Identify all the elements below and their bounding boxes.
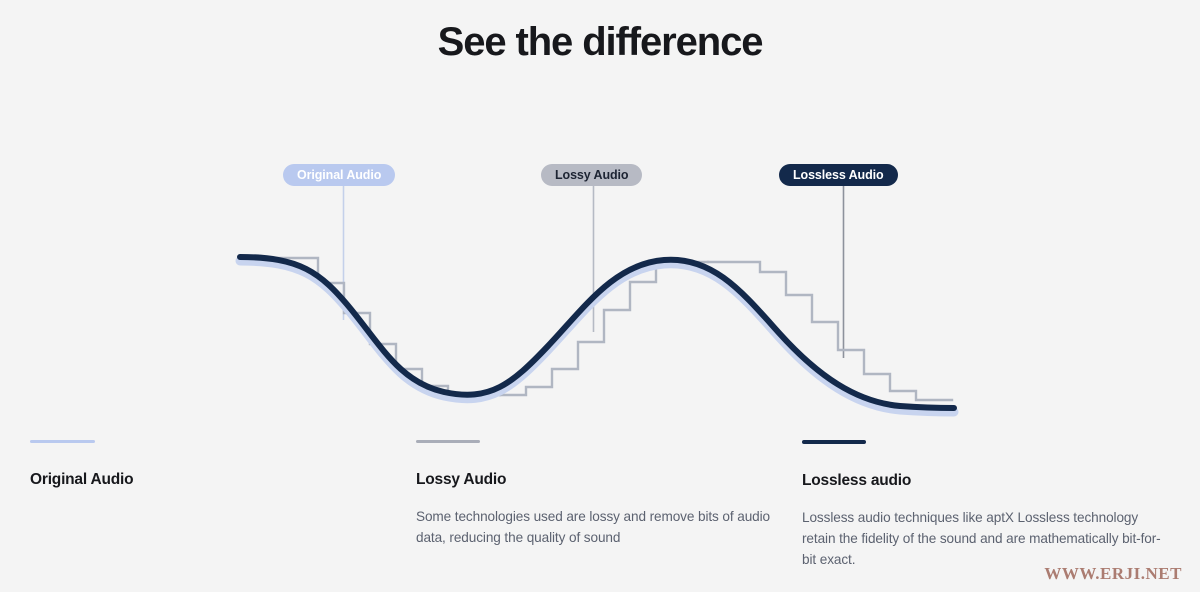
waveform-chart (0, 110, 1200, 430)
legend-item-lossy-audio: Lossy Audio Some technologies used are l… (416, 440, 776, 548)
legend-item-original-audio: Original Audio (30, 440, 390, 506)
legend-swatch-lossless-audio (802, 440, 866, 444)
legend: Original Audio Lossy Audio Some technolo… (0, 440, 1200, 592)
legend-body-lossless-audio: Lossless audio techniques like aptX Loss… (802, 507, 1174, 570)
legend-item-lossless-audio: Lossless audio Lossless audio techniques… (802, 440, 1174, 570)
badge-lossy-audio[interactable]: Lossy Audio (541, 164, 642, 186)
legend-body-lossy-audio: Some technologies used are lossy and rem… (416, 506, 776, 548)
watermark: WWW.ERJI.NET (1044, 564, 1182, 584)
badge-original-audio[interactable]: Original Audio (283, 164, 395, 186)
legend-title-lossy-audio: Lossy Audio (416, 471, 776, 489)
badge-lossless-audio[interactable]: Lossless Audio (779, 164, 898, 186)
lossless-audio-curve (240, 257, 954, 408)
legend-title-lossless-audio: Lossless audio (802, 472, 1174, 490)
page-root: See the difference Original Audio Lossy … (0, 0, 1200, 592)
legend-swatch-original-audio (30, 440, 95, 443)
legend-title-original-audio: Original Audio (30, 471, 390, 489)
legend-swatch-lossy-audio (416, 440, 480, 443)
lossy-staircase-path (240, 258, 952, 400)
page-title: See the difference (0, 20, 1200, 65)
